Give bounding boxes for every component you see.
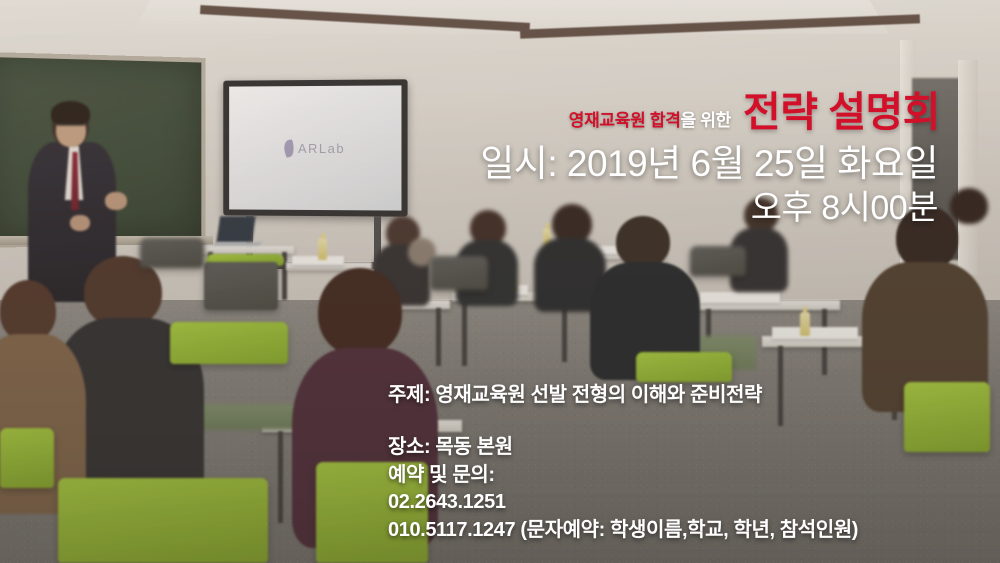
phone-mobile: 010.5117.1247 (문자예약: 학생이름,학교, 학년, 참석인원): [388, 517, 858, 545]
event-place: 장소: 목동 본원: [388, 434, 858, 462]
details-block: 주제: 영재교육원 선발 전형의 이해와 준비전략 장소: 목동 본원 예약 및…: [388, 378, 858, 544]
event-date: 일시: 2019년 6월 25일 화요일: [480, 142, 938, 186]
phone-office: 02.2643.1251: [388, 489, 858, 517]
headline-row: 영재교육원 합격을 위한 전략 설명회: [0, 92, 940, 133]
seminar-poster: ARLab: [0, 0, 1000, 563]
event-topic: 주제: 영재교육원 선발 전형의 이해와 준비전략: [388, 378, 858, 407]
datetime-block: 일시: 2019년 6월 25일 화요일 오후 8시00분: [480, 142, 938, 230]
headline-title: 전략 설명회: [743, 92, 940, 133]
contact-label: 예약 및 문의:: [388, 462, 858, 490]
kicker-plain: 을 위한: [681, 111, 731, 130]
event-time: 오후 8시00분: [480, 186, 938, 230]
headline-kicker: 영재교육원 합격을 위한: [569, 106, 731, 131]
kicker-highlight: 영재교육원 합격: [569, 111, 681, 130]
text-overlay: 영재교육원 합격을 위한 전략 설명회 일시: 2019년 6월 25일 화요일…: [0, 0, 1000, 563]
